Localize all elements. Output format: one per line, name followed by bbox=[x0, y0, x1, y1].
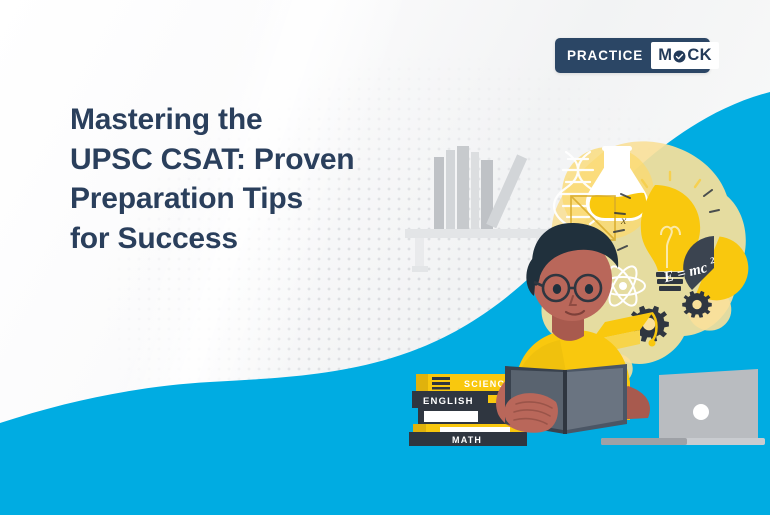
headline-line-3: Preparation Tips bbox=[70, 179, 450, 219]
banner-root: x bbox=[0, 0, 770, 515]
variable-label-x: x bbox=[620, 213, 627, 227]
book-label-math: MATH bbox=[452, 435, 482, 445]
practicemock-logo[interactable]: PRACTICE M CK bbox=[555, 38, 710, 73]
headline-line-1: Mastering the bbox=[70, 100, 450, 140]
headline-line-2: UPSC CSAT: Proven bbox=[70, 140, 450, 180]
headline-line-4: for Success bbox=[70, 219, 450, 259]
book-label-english: ENGLISH bbox=[423, 396, 474, 407]
page-title: Mastering the UPSC CSAT: Proven Preparat… bbox=[70, 100, 450, 258]
logo-mock-box: M CK bbox=[651, 42, 719, 69]
book-math: MATH bbox=[409, 432, 527, 446]
logo-mock-ck: CK bbox=[687, 47, 712, 64]
check-circle-icon bbox=[673, 50, 686, 63]
logo-practice-text: PRACTICE bbox=[560, 49, 651, 63]
logo-mock-m: M bbox=[658, 47, 672, 64]
logo-mock-text: M CK bbox=[658, 47, 712, 64]
